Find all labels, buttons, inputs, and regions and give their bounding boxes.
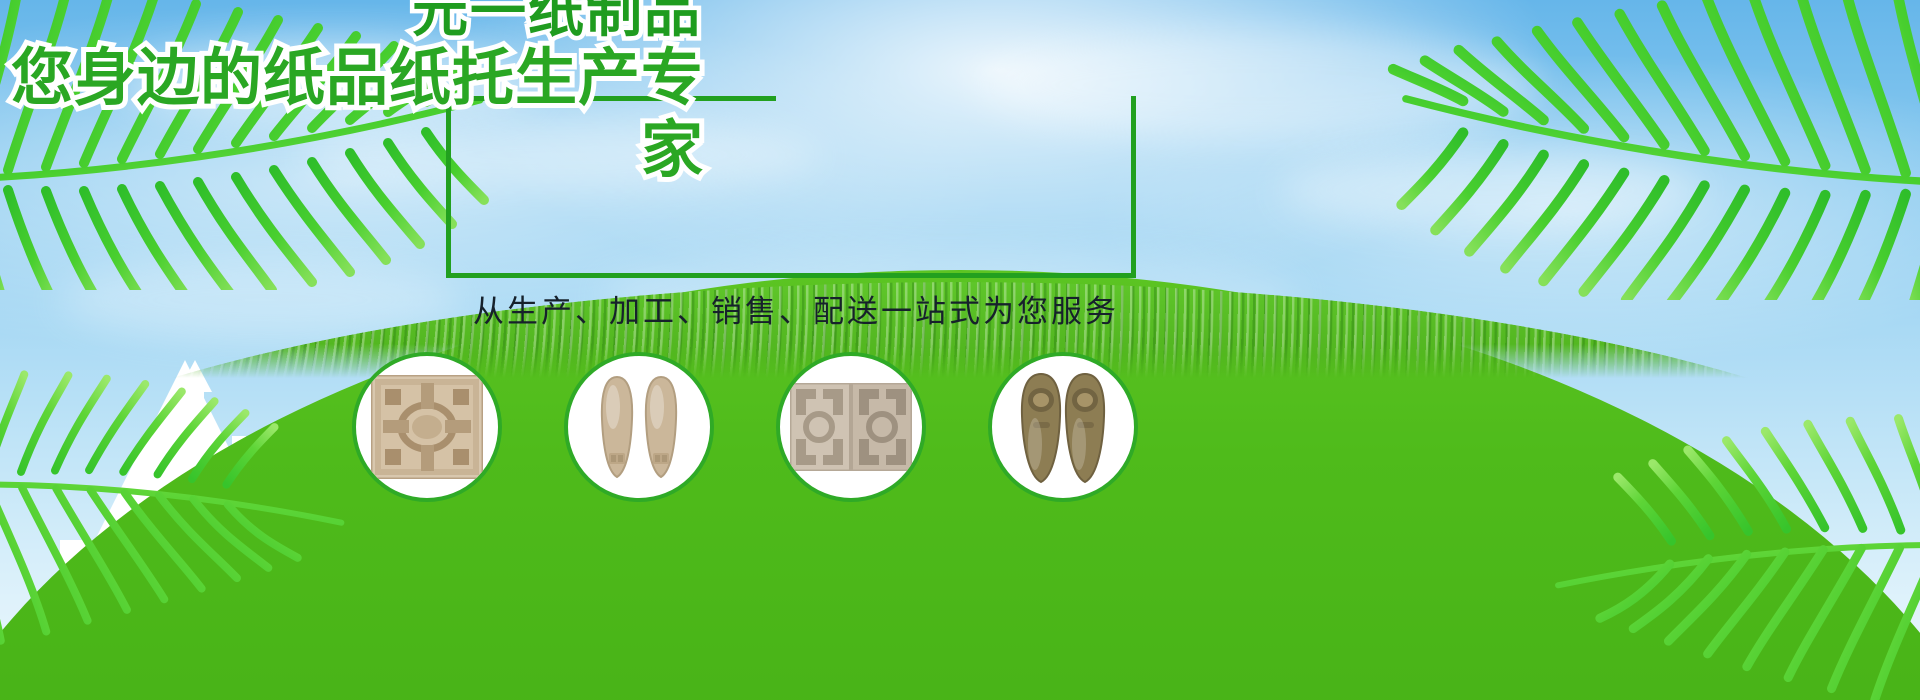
banner-subtitle: 从生产、加工、销售、配送一站式为您服务: [446, 292, 1146, 332]
headline-line-2: 您身边的纸品纸托生产专家: [0, 42, 712, 186]
cloud-decor: [1280, 150, 1700, 230]
molded-pulp-twin-corner-protector-icon: [790, 383, 912, 471]
molded-pulp-dark-shoe-tree-pair-icon: [1011, 366, 1115, 488]
molded-pulp-shoe-insert-pair-icon: [587, 367, 691, 487]
product-circle-row: [352, 352, 1172, 502]
frame-bottom-rule: [446, 273, 1134, 278]
headline-line-1: 元一纸制品: [0, 0, 712, 44]
product-circle-3[interactable]: [776, 352, 926, 502]
product-circle-2[interactable]: [564, 352, 714, 502]
headline-block: 元一纸制品 您身边的纸品纸托生产专家: [0, 0, 712, 186]
product-circle-4[interactable]: [988, 352, 1138, 502]
promo-banner: 元一纸制品 您身边的纸品纸托生产专家 从生产、加工、销售、配送一站式为您服务: [0, 0, 1920, 700]
frame-right-rule: [1131, 96, 1136, 278]
product-circle-1[interactable]: [352, 352, 502, 502]
molded-pulp-square-tray-icon: [371, 375, 483, 479]
